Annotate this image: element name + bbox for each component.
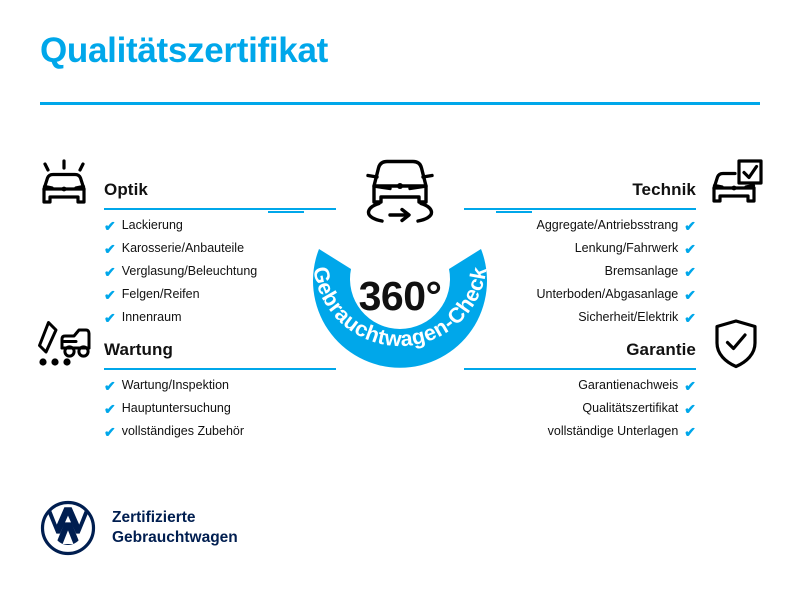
- list-item-label: Felgen/Reifen: [122, 288, 200, 301]
- vw-lockup-line2: Gebrauchtwagen: [112, 528, 238, 548]
- list-item-label: vollständiges Zubehör: [122, 425, 244, 438]
- list-item: ✔Hauptuntersuchung: [104, 397, 336, 420]
- badge-center-label: 360°: [289, 273, 511, 320]
- check-icon: ✔: [684, 288, 696, 302]
- check-icon: ✔: [684, 379, 696, 393]
- certificate-page: Qualitätszertifikat Opt: [0, 0, 800, 600]
- car-checkbox-icon: [708, 158, 764, 210]
- section-wartung-list: ✔Wartung/Inspektion ✔Hauptuntersuchung ✔…: [36, 374, 336, 443]
- car-service-pen-icon: [36, 318, 92, 370]
- vw-lockup-line1: Zertifizierte: [112, 508, 238, 528]
- car-shine-icon: [36, 158, 92, 210]
- list-item-label: Lackierung: [122, 219, 183, 232]
- check-icon: ✔: [104, 242, 116, 256]
- 360-check-badge: Gebrauchtwagen-Check 360°: [289, 155, 511, 377]
- check-icon: ✔: [684, 402, 696, 416]
- title-divider: [40, 102, 760, 105]
- list-item-label: Bremsanlage: [605, 265, 679, 278]
- check-icon: ✔: [104, 379, 116, 393]
- page-title: Qualitätszertifikat: [40, 33, 328, 68]
- check-icon: ✔: [684, 219, 696, 233]
- list-item-label: Karosserie/Anbauteile: [122, 242, 244, 255]
- list-item: ✔Wartung/Inspektion: [104, 374, 336, 397]
- check-icon: ✔: [684, 265, 696, 279]
- section-wartung-title: Wartung: [104, 340, 173, 360]
- section-optik-title: Optik: [104, 180, 148, 200]
- shield-check-icon: [708, 318, 764, 370]
- list-item-label: Qualitätszertifikat: [582, 402, 678, 415]
- check-icon: ✔: [104, 402, 116, 416]
- list-item-label: Lenkung/Fahrwerk: [575, 242, 679, 255]
- list-item-label: Wartung/Inspektion: [122, 379, 229, 392]
- section-technik-title: Technik: [632, 180, 696, 200]
- check-icon: ✔: [104, 265, 116, 279]
- list-item-label: Verglasung/Beleuchtung: [122, 265, 258, 278]
- list-item-label: Hauptuntersuchung: [122, 402, 231, 415]
- list-item-label: vollständige Unterlagen: [548, 425, 679, 438]
- section-garantie-list: Garantienachweis✔ Qualitätszertifikat✔ v…: [464, 374, 764, 443]
- section-garantie-title: Garantie: [626, 340, 696, 360]
- list-item: ✔vollständiges Zubehör: [104, 420, 336, 443]
- check-icon: ✔: [104, 425, 116, 439]
- check-icon: ✔: [104, 288, 116, 302]
- check-icon: ✔: [104, 219, 116, 233]
- list-item-label: Garantienachweis: [578, 379, 678, 392]
- vw-lockup-text: Zertifizierte Gebrauchtwagen: [112, 508, 238, 548]
- list-item: Garantienachweis✔: [464, 374, 696, 397]
- list-item: Qualitätszertifikat✔: [464, 397, 696, 420]
- check-icon: ✔: [684, 425, 696, 439]
- vw-logo: [40, 500, 96, 556]
- list-item: vollständige Unterlagen✔: [464, 420, 696, 443]
- list-item-label: Unterboden/Abgasanlage: [536, 288, 678, 301]
- check-icon: ✔: [684, 242, 696, 256]
- vw-lockup: Zertifizierte Gebrauchtwagen: [40, 500, 238, 556]
- list-item-label: Aggregate/Antriebsstrang: [537, 219, 679, 232]
